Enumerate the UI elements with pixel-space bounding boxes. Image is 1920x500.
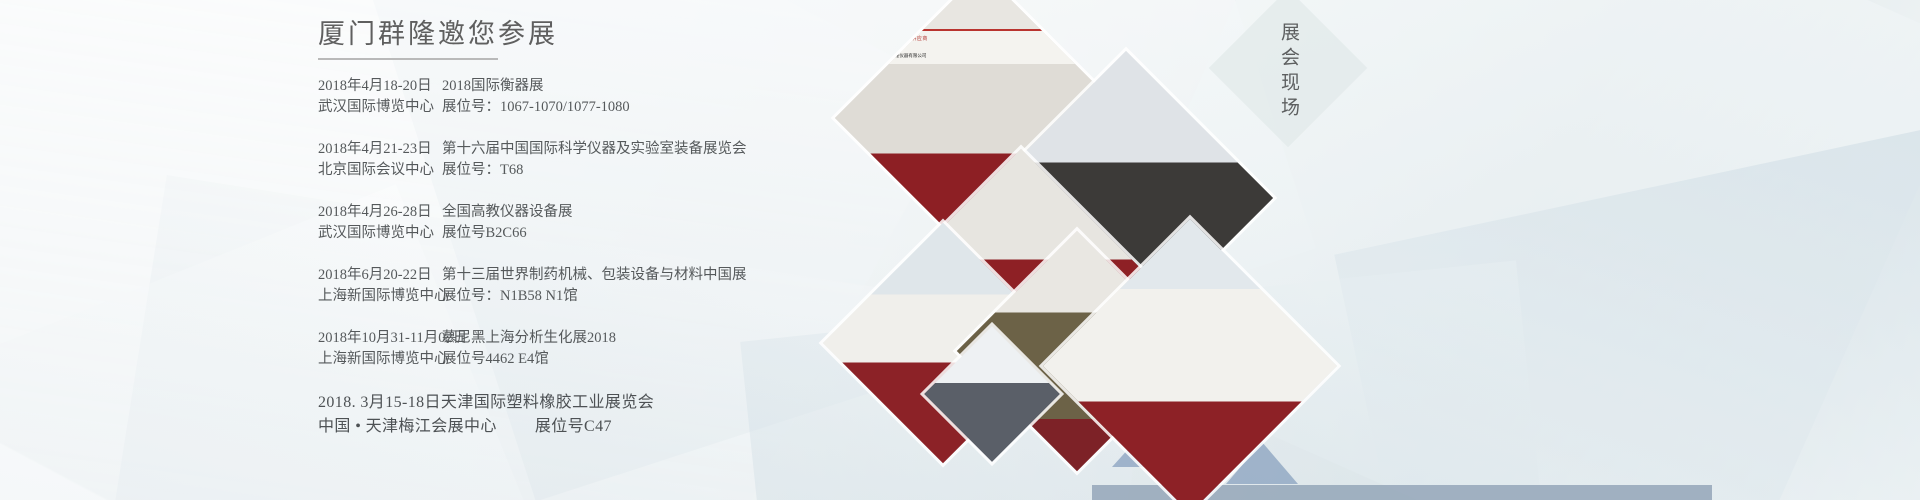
booth-sign-company: 厦门群隆仪器有限公司 [881, 53, 926, 59]
event-title: 2018. 3月15-18日天津国际塑料橡胶工业展览会 [318, 391, 654, 415]
booth-sign-headline: 密度计&水分仪中国供应商 [864, 35, 928, 42]
event-date: 2018年4月21-23日 [318, 139, 442, 160]
event-booth: 展位号C47 [497, 415, 612, 439]
photo-collage: 密度计&水分仪中国供应商 厦门群隆仪器有限公司 [840, 0, 1260, 500]
event-venue: 武汉国际博览中心 [318, 223, 442, 244]
event-date: 2018年4月26-28日 [318, 202, 442, 223]
title-underline [318, 58, 498, 60]
event-venue: 北京国际会议中心 [318, 160, 442, 181]
event-venue: 武汉国际博览中心 [318, 97, 442, 118]
event-booth: 展位号：1067-1070/1077-1080 [442, 97, 630, 118]
event-name: 第十三届世界制药机械、包装设备与材料中国展 [442, 265, 747, 286]
event-booth: 展位号4462 E4馆 [442, 349, 549, 370]
event-name: 慕尼黑上海分析生化展2018 [442, 328, 616, 349]
event-date: 2018年10月31-11月02日 [318, 328, 442, 349]
event-name: 第十六届中国国际科学仪器及实验室装备展览会 [442, 139, 747, 160]
side-label-text: 展会现场 [1272, 22, 1302, 122]
event-name: 全国高教仪器设备展 [442, 202, 573, 223]
event-venue: 中国 • 天津梅江会展中心 [318, 415, 497, 439]
event-booth: 展位号B2C66 [442, 223, 527, 244]
event-name: 2018国际衡器展 [442, 76, 544, 97]
event-date: 2018年4月18-20日 [318, 76, 442, 97]
event-venue: 上海新国际博览中心 [318, 349, 442, 370]
exhibition-banner: 厦门群隆邀您参展 2018年4月18-20日 2018国际衡器展 武汉国际博览中… [0, 0, 1920, 500]
event-date: 2018年6月20-22日 [318, 265, 442, 286]
event-venue: 上海新国际博览中心 [318, 286, 442, 307]
event-booth: 展位号：N1B58 N1馆 [442, 286, 578, 307]
event-booth: 展位号：T68 [442, 160, 523, 181]
